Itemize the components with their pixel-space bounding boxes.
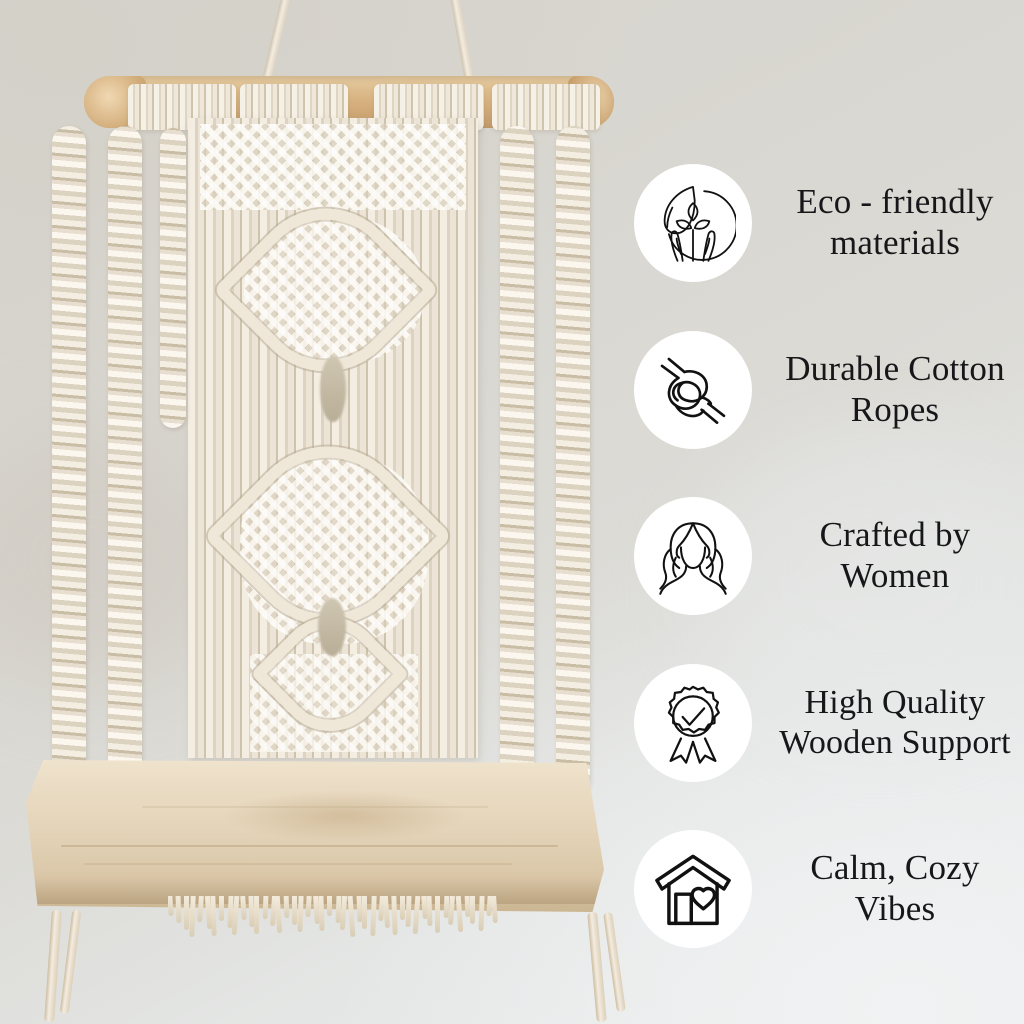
- feature-row-vibes: Calm, Cozy Vibes: [634, 818, 1024, 960]
- spiral-cord: [108, 126, 142, 786]
- house-heart-icon: [634, 830, 752, 948]
- fringe-strand: [383, 896, 390, 928]
- fringe-strand: [427, 896, 433, 926]
- fringe-strand: [478, 896, 484, 931]
- fringe-strand: [297, 896, 303, 932]
- feature-label: Eco - friendly materials: [766, 182, 1024, 263]
- feature-list: Eco - friendly materials Durable Cotton …: [634, 152, 1024, 960]
- spiral-cord: [500, 126, 534, 826]
- cord-tail: [44, 910, 62, 1022]
- fringe-strand: [435, 896, 440, 933]
- panel-gap: [320, 356, 346, 422]
- fringe-strand: [327, 896, 332, 916]
- fringe-strand: [470, 896, 475, 924]
- panel-gap: [318, 598, 346, 656]
- knot-texture: [200, 124, 466, 210]
- fringe-strand: [284, 896, 290, 918]
- macrame-panel: [188, 118, 478, 758]
- feature-row-women: Crafted by Women: [634, 485, 1024, 627]
- fringe-strand: [392, 896, 398, 935]
- cord-tail: [587, 912, 607, 1022]
- fringe-strand: [400, 896, 405, 920]
- spiral-cord: [556, 126, 590, 796]
- fringe-strand: [305, 896, 311, 917]
- fringe-strand: [412, 896, 420, 934]
- spiral-cord: [52, 126, 86, 816]
- eco-leaf-hands-icon: [634, 164, 752, 282]
- infographic-canvas: Eco - friendly materials Durable Cotton …: [0, 0, 1024, 1024]
- cord-tail: [603, 912, 626, 1012]
- feature-label: Durable Cotton Ropes: [766, 349, 1024, 430]
- fringe-strand: [189, 896, 195, 937]
- fringe-strand: [197, 896, 204, 922]
- fringe-strand: [176, 896, 182, 923]
- fringe-strand: [362, 896, 367, 929]
- feature-label: Calm, Cozy Vibes: [766, 848, 1024, 929]
- fringe-strand: [262, 896, 268, 919]
- feature-row-eco: Eco - friendly materials: [634, 152, 1024, 294]
- fringe-strand: [168, 896, 174, 916]
- dowel-loops: [492, 84, 600, 130]
- fringe-strand: [254, 896, 259, 934]
- quality-badge-icon: [634, 664, 752, 782]
- fringe-strand: [184, 896, 189, 930]
- fringe-strand: [210, 896, 216, 936]
- product-photo: [0, 0, 640, 1024]
- fringe-strand: [275, 896, 283, 933]
- wooden-shelf: [26, 760, 604, 912]
- feature-label: High Quality Wooden Support: [766, 683, 1024, 762]
- fringe-strand: [348, 896, 356, 937]
- woman-face-icon: [634, 497, 752, 615]
- feature-row-ropes: Durable Cotton Ropes: [634, 319, 1024, 461]
- wood-grain: [61, 845, 558, 847]
- fringe-strand: [370, 896, 376, 936]
- cord-tail: [60, 910, 82, 1014]
- spiral-cord: [160, 128, 186, 428]
- fringe-strand: [292, 896, 297, 925]
- fringe-strand: [456, 896, 463, 932]
- fringe-strand: [319, 896, 325, 931]
- wood-grain: [142, 806, 489, 808]
- feature-label: Crafted by Women: [766, 515, 1024, 596]
- fringe-strand: [448, 896, 455, 925]
- fringe-strand: [491, 896, 498, 923]
- feature-row-quality: High Quality Wooden Support: [634, 652, 1024, 794]
- fringe: [168, 896, 498, 940]
- fringe-strand: [405, 896, 411, 927]
- fringe-strand: [240, 896, 247, 920]
- wood-grain: [84, 863, 512, 865]
- fringe-strand: [219, 896, 224, 921]
- rope-knot-icon: [634, 331, 752, 449]
